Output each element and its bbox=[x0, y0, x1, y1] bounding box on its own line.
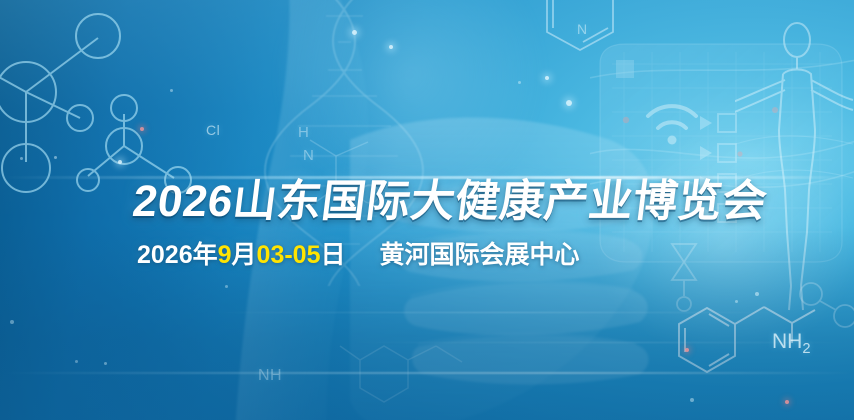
banner-subtitle: 2026年9月03-05日黄河国际会展中心 bbox=[137, 240, 580, 270]
subtitle-month-char: 月 bbox=[232, 241, 257, 269]
banner-text-content: 2026山东国际大健康产业博览会 2026年9月03-05日黄河国际会展中心 bbox=[0, 0, 854, 420]
subtitle-year: 2026年 bbox=[137, 241, 218, 269]
banner-title: 2026山东国际大健康产业博览会 bbox=[130, 179, 770, 225]
subtitle-day-char: 日 bbox=[321, 241, 346, 269]
expo-banner: Cl H N NH N NH2 2026山东国际大健康产业博览会 2026年9月… bbox=[0, 0, 854, 420]
subtitle-venue: 黄河国际会展中心 bbox=[380, 241, 580, 269]
subtitle-days: 03-05 bbox=[257, 241, 321, 269]
subtitle-month-number: 9 bbox=[218, 241, 232, 269]
